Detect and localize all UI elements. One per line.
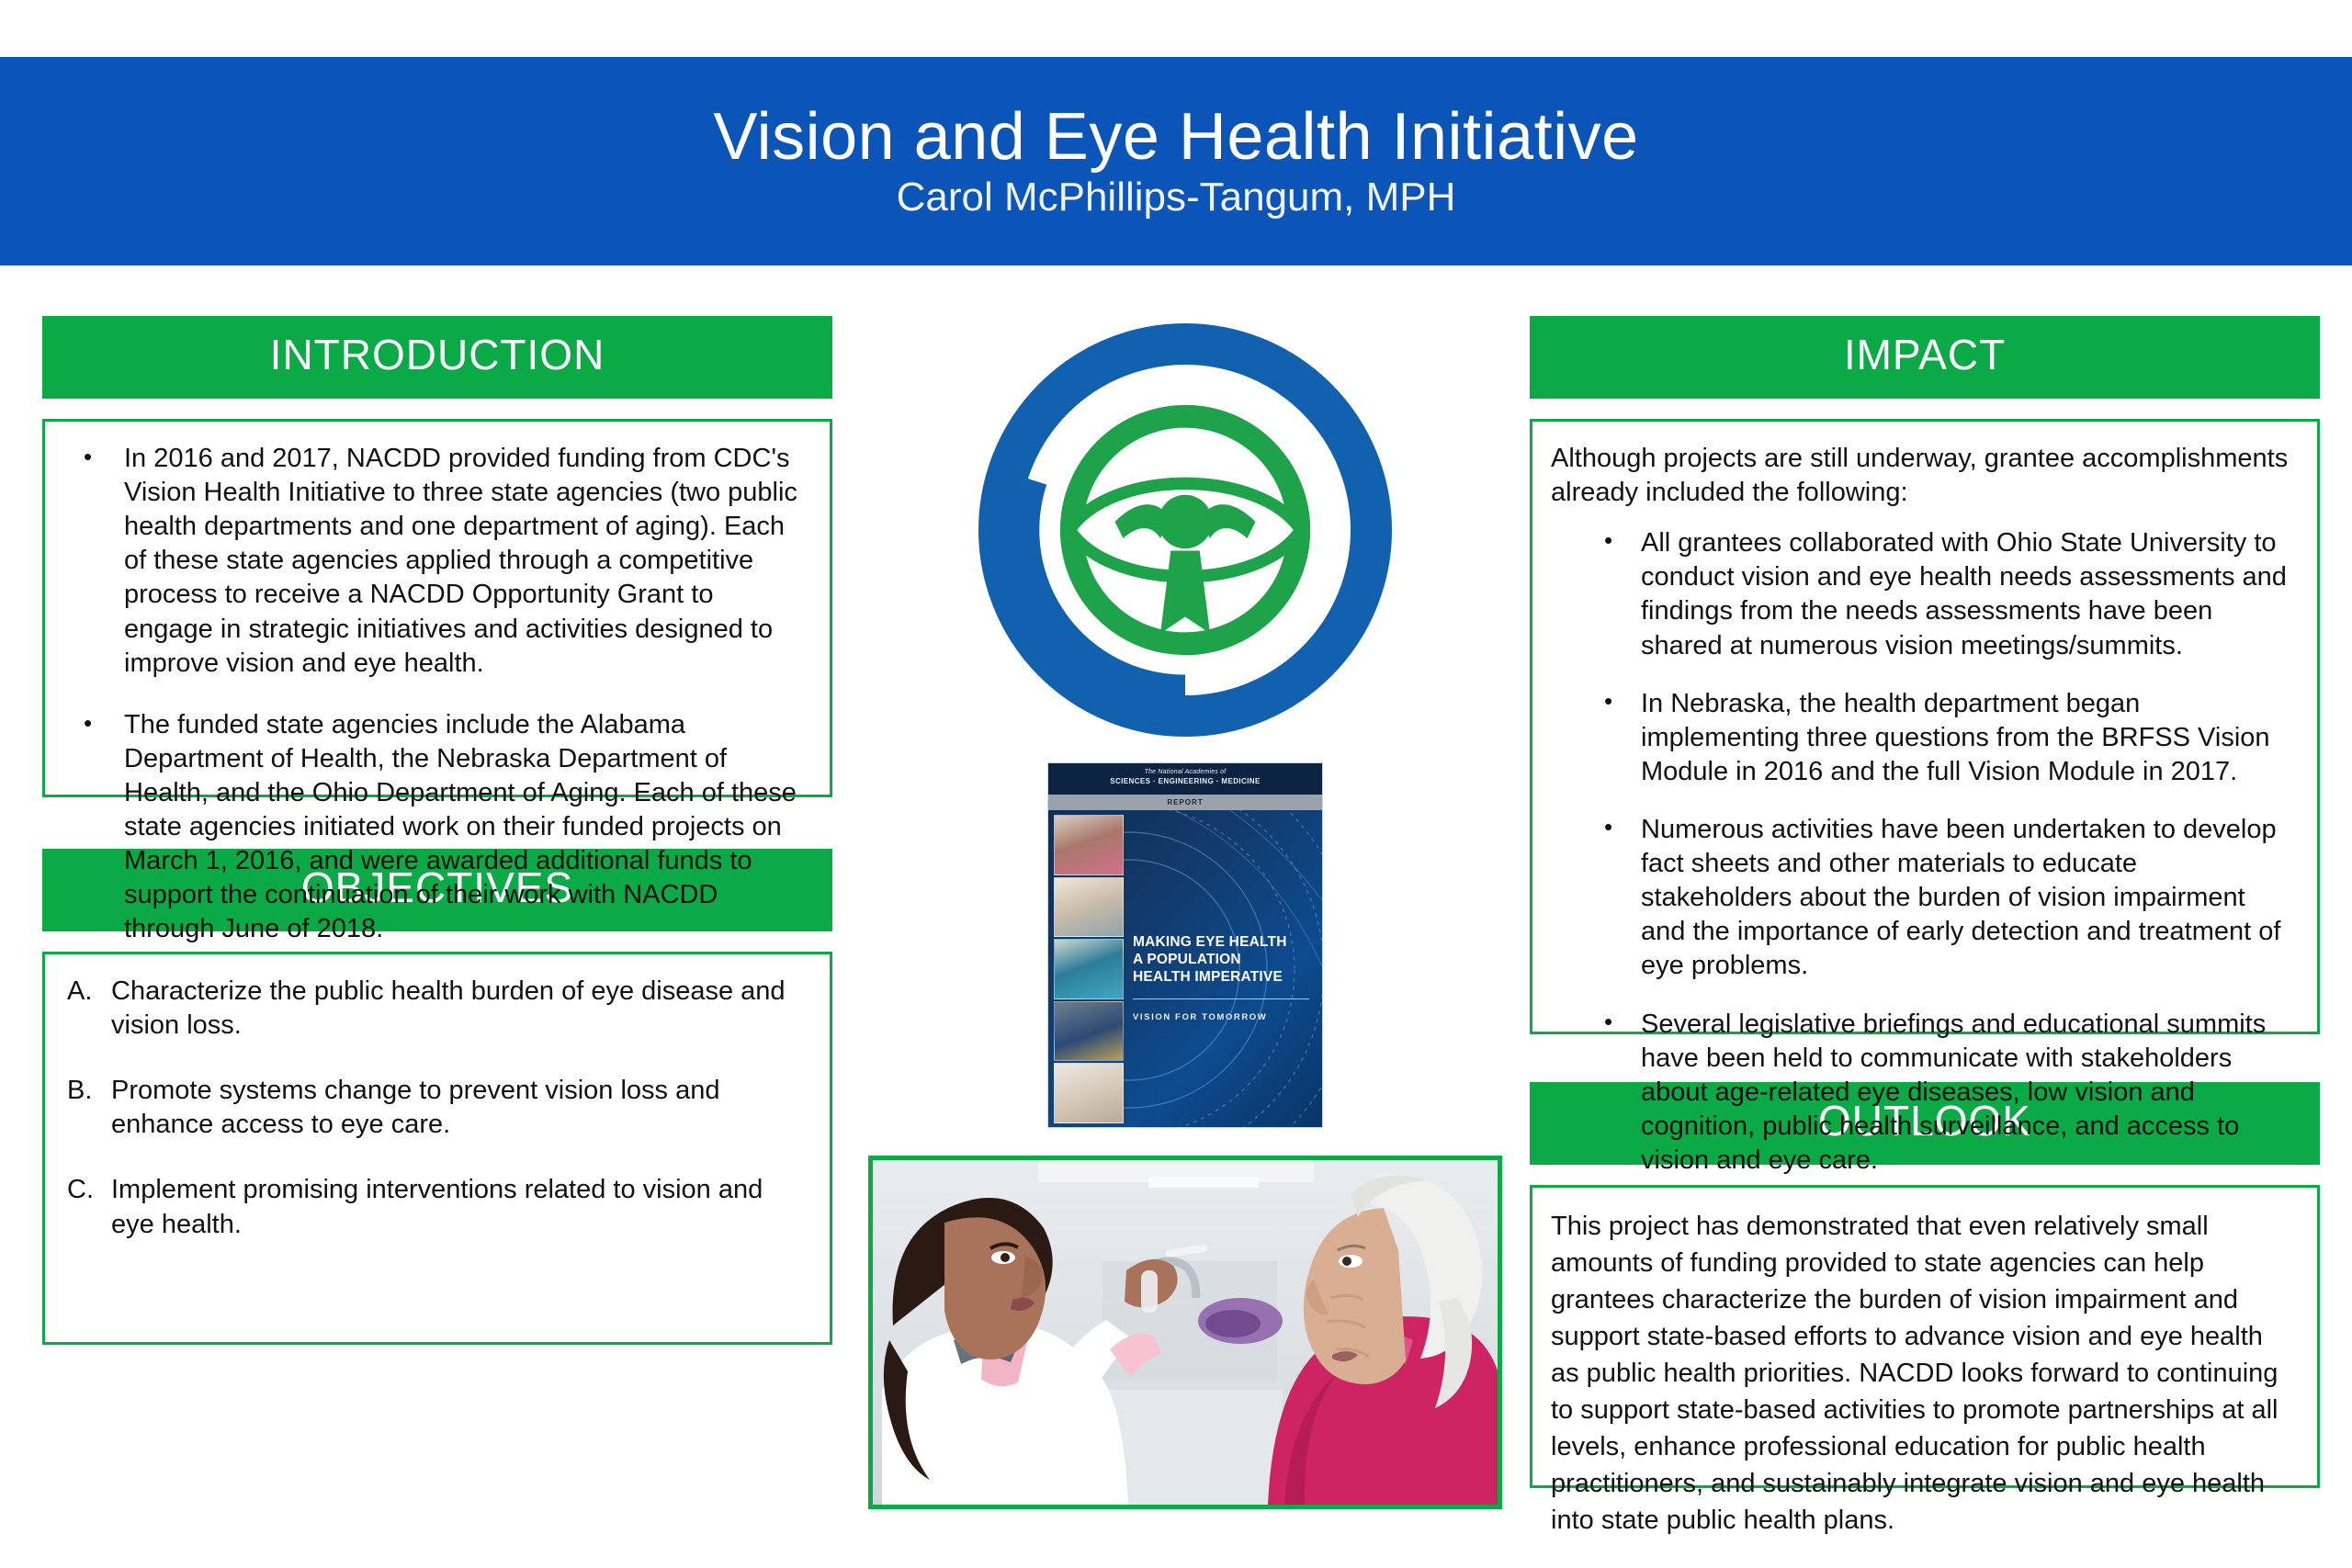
cover-title-line-3: HEALTH IMPERATIVE: [1133, 969, 1315, 987]
cover-photo-5: [1054, 1063, 1124, 1123]
objective-b: Promote systems change to prevent vision…: [111, 1076, 720, 1139]
cover-photo-4: [1054, 1001, 1124, 1062]
cover-publisher-line1: The National Academies of: [1048, 769, 1322, 775]
cover-photo-strip: [1054, 815, 1124, 1123]
nacdd-logo: [978, 323, 1392, 737]
report-cover-image: The National Academies of SCIENCES · ENG…: [1047, 762, 1323, 1128]
outlook-text: This project has demonstrated that even …: [1551, 1208, 2293, 1539]
impact-box: Although projects are still underway, gr…: [1530, 419, 2320, 1034]
cover-title: MAKING EYE HEALTH A POPULATION HEALTH IM…: [1133, 934, 1315, 987]
impact-bullet-3: Numerous activities have been undertaken…: [1641, 815, 2280, 980]
left-column: INTRODUCTION In 2016 and 2017, NACDD pro…: [42, 316, 832, 1345]
list-item: Characterize the public health burden of…: [63, 975, 806, 1043]
introduction-box: In 2016 and 2017, NACDD provided funding…: [42, 419, 832, 797]
list-item: Implement promising interventions relate…: [63, 1173, 806, 1241]
list-item: In 2016 and 2017, NACDD provided funding…: [63, 442, 806, 681]
list-item: Several legislative briefings and educat…: [1588, 1008, 2293, 1179]
cover-publisher: The National Academies of SCIENCES · ENG…: [1048, 763, 1322, 795]
cover-photo-1: [1054, 815, 1124, 875]
list-item: All grantees collaborated with Ohio Stat…: [1588, 526, 2293, 662]
introduction-bullet-list: In 2016 and 2017, NACDD provided funding…: [63, 442, 806, 947]
impact-bullet-1: All grantees collaborated with Ohio Stat…: [1641, 528, 2287, 660]
impact-bullet-2: In Nebraska, the health department began…: [1641, 689, 2270, 786]
outlook-box: This project has demonstrated that even …: [1530, 1185, 2320, 1488]
section-header-introduction: INTRODUCTION: [42, 316, 832, 399]
objectives-box: Characterize the public health burden of…: [42, 952, 832, 1345]
author-name: Carol McPhillips-Tangum, MPH: [897, 175, 1456, 220]
impact-bullet-list: All grantees collaborated with Ohio Stat…: [1551, 526, 2293, 1178]
cover-publisher-line2: SCIENCES · ENGINEERING · MEDICINE: [1048, 778, 1322, 785]
list-item: Promote systems change to prevent vision…: [63, 1074, 806, 1142]
cover-photo-3: [1054, 939, 1124, 999]
list-item: In Nebraska, the health department began…: [1588, 687, 2293, 789]
list-item: The funded state agencies include the Al…: [63, 708, 806, 947]
impact-bullet-4: Several legislative briefings and educat…: [1641, 1010, 2266, 1175]
section-header-impact: IMPACT: [1530, 316, 2320, 399]
right-column: IMPACT Although projects are still under…: [1530, 316, 2320, 1488]
cover-title-line-2: A POPULATION: [1133, 952, 1315, 969]
cover-title-line-1: MAKING EYE HEALTH: [1133, 934, 1315, 952]
cover-divider: [1133, 998, 1309, 999]
poster-header: Vision and Eye Health Initiative Carol M…: [0, 57, 2352, 265]
objectives-list: Characterize the public health burden of…: [63, 975, 806, 1242]
center-column: The National Academies of SCIENCES · ENG…: [864, 316, 1507, 1509]
cover-photo-2: [1054, 877, 1124, 938]
objective-c: Implement promising interventions relate…: [111, 1175, 763, 1238]
cover-subtitle: VISION FOR TOMORROW: [1133, 1012, 1267, 1022]
page-title: Vision and Eye Health Initiative: [713, 103, 1638, 173]
impact-intro-text: Although projects are still underway, gr…: [1551, 442, 2293, 510]
introduction-bullet-1: In 2016 and 2017, NACDD provided funding…: [124, 444, 797, 678]
list-item: Numerous activities have been undertaken…: [1588, 813, 2293, 984]
eye-exam-photo: [868, 1156, 1502, 1509]
objective-a: Characterize the public health burden of…: [111, 976, 786, 1040]
cover-report-label: REPORT: [1048, 795, 1322, 810]
introduction-bullet-2: The funded state agencies include the Al…: [124, 710, 797, 944]
